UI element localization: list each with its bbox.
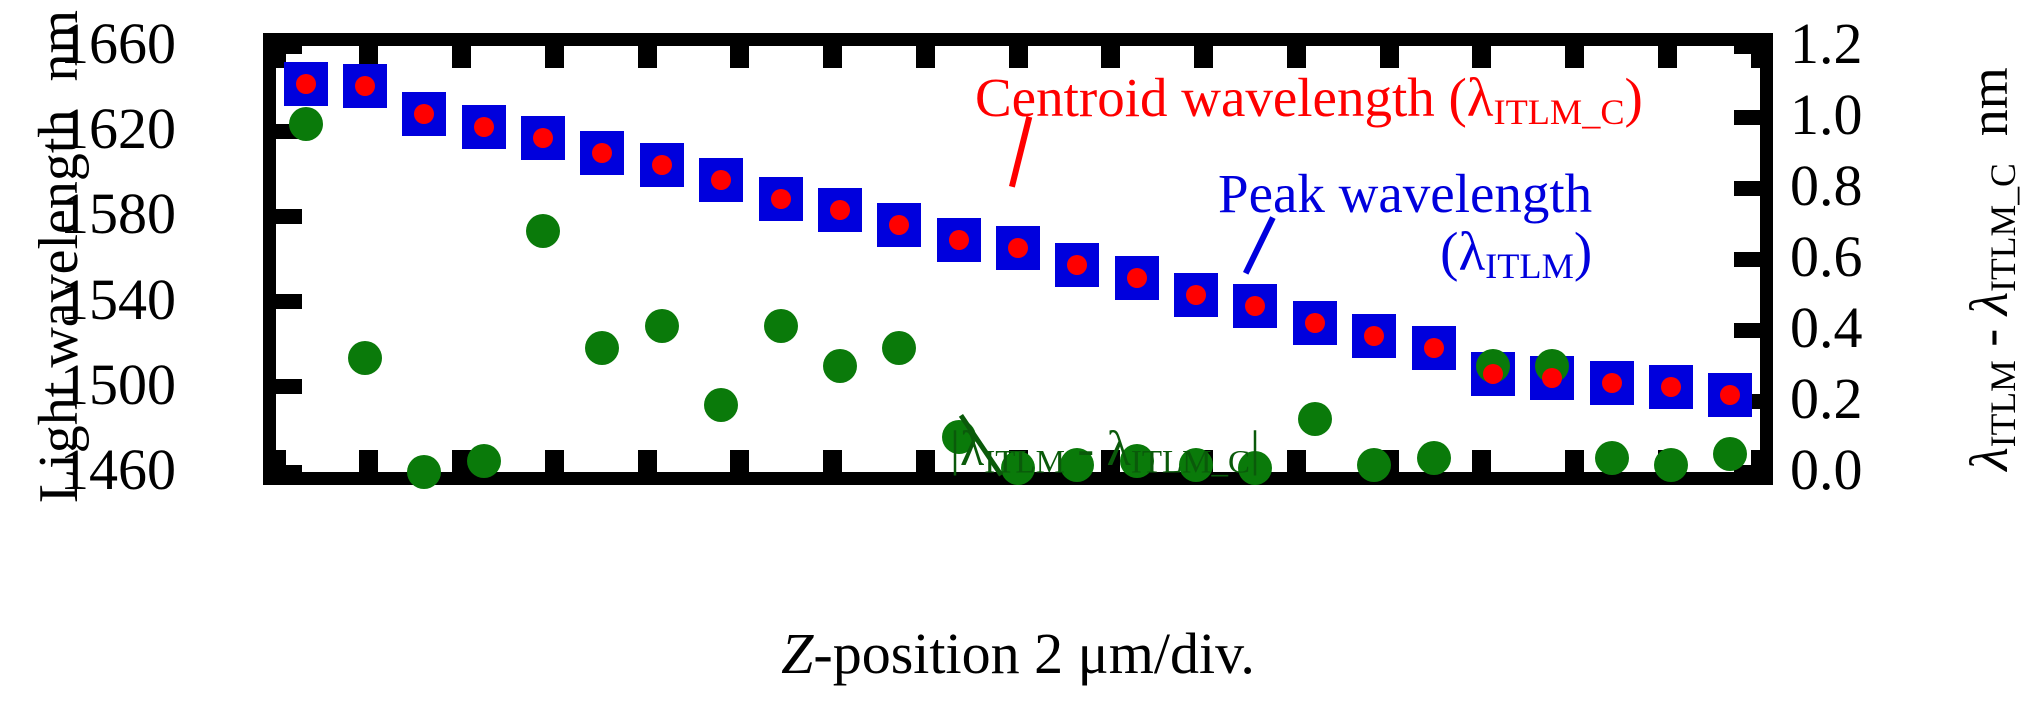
right-axis-sub-2: ITLM_C <box>1983 163 2021 292</box>
right-axis-lambda-1: λ <box>1959 447 2019 470</box>
bottom-axis-tick <box>1472 450 1491 472</box>
right-axis-tick-label: 1.0 <box>1790 86 1863 144</box>
annotation-centroid-subscript: ITLM_C <box>1493 92 1624 132</box>
right-axis-lambda-2: λ <box>1959 292 2019 315</box>
right-axis-tick <box>1734 252 1760 267</box>
annotation-wavelength-difference: |λITLM - λITLM_C| <box>950 422 1260 480</box>
centroid-wavelength-marker <box>652 155 672 175</box>
bottom-axis-tick <box>916 450 935 472</box>
top-axis-tick <box>545 46 564 68</box>
right-axis-tick-label: 0.6 <box>1790 228 1863 286</box>
annotation-centroid-text: Centroid wavelength (λ <box>975 67 1493 128</box>
right-axis-tick-label: 0.2 <box>1790 370 1863 428</box>
x-axis-title-italic: Z <box>781 621 813 686</box>
annotation-diff-middle: - λ <box>1065 420 1131 476</box>
right-axis-minus: - <box>1959 315 2019 360</box>
top-axis-tick <box>1565 46 1584 68</box>
top-axis-tick <box>823 46 842 68</box>
wavelength-difference-marker <box>348 341 382 375</box>
top-axis-tick <box>1751 46 1770 68</box>
annotation-diff-prefix: |λ <box>950 420 984 476</box>
top-axis-tick <box>916 46 935 68</box>
top-axis-tick <box>1101 46 1120 68</box>
x-axis-title: Z-position 2 μm/div. <box>263 620 1773 687</box>
right-axis-tick-label: 0.8 <box>1790 157 1863 215</box>
bottom-axis-tick <box>1287 450 1306 472</box>
top-axis-tick <box>1472 46 1491 68</box>
centroid-wavelength-marker <box>592 143 612 163</box>
wavelength-difference-marker <box>1654 448 1688 482</box>
annotation-peak-suffix: ) <box>1574 221 1592 282</box>
centroid-wavelength-marker <box>1424 338 1444 358</box>
top-axis-tick <box>638 46 657 68</box>
left-axis-title: Light wavelength nm <box>27 33 91 503</box>
centroid-wavelength-marker <box>1483 364 1503 384</box>
right-axis-tick-label: 0.0 <box>1790 441 1863 499</box>
wavelength-difference-marker <box>882 331 916 365</box>
right-axis-tick <box>1734 110 1760 125</box>
top-axis-tick <box>452 46 471 68</box>
wavelength-difference-marker <box>467 444 501 478</box>
left-axis-tick <box>276 209 302 224</box>
wavelength-difference-marker <box>1357 448 1391 482</box>
annotation-peak-subscript: ITLM <box>1485 246 1574 286</box>
left-axis-tick <box>276 294 302 309</box>
right-axis-unit: nm <box>1959 67 2019 136</box>
wavelength-difference-marker <box>526 214 560 248</box>
wavelength-difference-marker <box>645 309 679 343</box>
right-axis-tick <box>1734 181 1760 196</box>
right-axis-sub-1: ITLM <box>1983 360 2021 447</box>
centroid-wavelength-marker <box>949 230 969 250</box>
top-axis-tick <box>1009 46 1028 68</box>
annotation-centroid-wavelength: Centroid wavelength (λITLM_C) <box>975 69 1643 131</box>
bottom-axis-tick <box>267 450 286 472</box>
wavelength-difference-marker <box>585 331 619 365</box>
right-axis-tick-label: 1.2 <box>1790 15 1863 73</box>
annotation-centroid-tail: ) <box>1625 67 1643 128</box>
bottom-axis-tick <box>730 450 749 472</box>
left-axis-title-unit: nm <box>28 10 90 82</box>
right-axis-title: λITLM - λITLM_C nm <box>1958 34 2021 504</box>
wavelength-difference-marker <box>1417 441 1451 475</box>
centroid-wavelength-marker <box>296 74 316 94</box>
annotation-peak-line2: (λITLM) <box>1218 223 1592 285</box>
annotation-diff-suffix: | <box>1250 420 1260 476</box>
right-axis-tick-label: 0.4 <box>1790 299 1863 357</box>
left-axis-title-text: Light wavelength <box>28 110 90 503</box>
bottom-axis-tick <box>1565 450 1584 472</box>
annotation-peak-prefix: (λ <box>1440 221 1485 282</box>
centroid-wavelength-marker <box>1305 313 1325 333</box>
centroid-wavelength-marker <box>1364 326 1384 346</box>
top-axis-tick <box>1380 46 1399 68</box>
bottom-axis-tick <box>545 450 564 472</box>
wavelength-difference-marker <box>1298 402 1332 436</box>
annotation-diff-subscript-2: ITLM_C <box>1131 444 1250 480</box>
centroid-wavelength-marker <box>474 117 494 137</box>
wavelength-difference-marker <box>1595 441 1629 475</box>
centroid-wavelength-marker <box>1127 268 1147 288</box>
left-axis-tick <box>276 379 302 394</box>
wavelength-difference-marker <box>823 349 857 383</box>
bottom-axis-tick <box>359 450 378 472</box>
x-axis-title-rest: -position 2 μm/div. <box>813 621 1254 686</box>
top-axis-tick <box>1287 46 1306 68</box>
centroid-wavelength-marker <box>533 128 553 148</box>
annotation-diff-subscript-1: ITLM <box>984 444 1065 480</box>
wavelength-difference-marker <box>289 107 323 141</box>
centroid-wavelength-marker <box>830 200 850 220</box>
bottom-axis-tick <box>823 450 842 472</box>
wavelength-difference-marker <box>704 388 738 422</box>
bottom-axis-tick <box>1751 450 1770 472</box>
annotation-peak-wavelength: Peak wavelength(λITLM) <box>1218 165 1592 285</box>
wavelength-difference-marker <box>764 309 798 343</box>
top-axis-tick <box>1658 46 1677 68</box>
chart-root: 166016201580154015001460 1.21.00.80.60.4… <box>0 0 2021 728</box>
centroid-wavelength-marker <box>1602 373 1622 393</box>
bottom-axis-tick <box>638 450 657 472</box>
right-axis-tick <box>1734 323 1760 338</box>
top-axis-tick <box>730 46 749 68</box>
annotation-peak-text: Peak wavelength <box>1218 163 1592 224</box>
centroid-wavelength-marker <box>771 189 791 209</box>
centroid-wavelength-marker <box>1661 377 1681 397</box>
top-axis-tick <box>267 46 286 68</box>
top-axis-tick <box>1194 46 1213 68</box>
